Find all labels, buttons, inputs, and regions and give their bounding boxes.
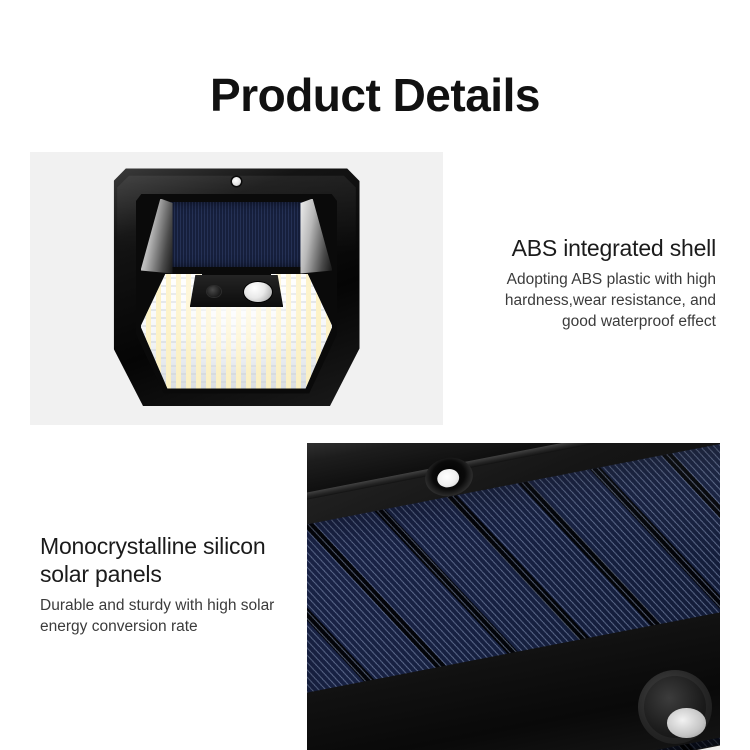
feature-solar-body: Durable and sturdy with high solar energ… [40, 595, 306, 637]
pir-motion-sensor-icon [244, 282, 272, 302]
lamp-illustration [114, 164, 360, 414]
mount-hole-icon [232, 177, 241, 186]
product-details-page: Product Details ABS integrated shell Ado… [0, 0, 750, 750]
solar-panel [168, 202, 306, 267]
feature-abs-heading: ABS integrated shell [466, 234, 716, 262]
feature-solar-body-line-1: Durable and sturdy with high solar [40, 595, 306, 616]
feature-abs-body-line-3: good waterproof effect [466, 311, 716, 332]
page-title: Product Details [0, 67, 750, 123]
feature-solar-heading-line-1: Monocrystalline silicon [40, 533, 266, 559]
feature-solar-body-line-2: energy conversion rate [40, 616, 306, 637]
feature-abs-shell: ABS integrated shell Adopting ABS plasti… [466, 234, 716, 332]
feature-abs-body: Adopting ABS plastic with high hardness,… [466, 269, 716, 332]
product-image-solar-panel [307, 443, 720, 750]
sensor-housing [190, 275, 284, 308]
feature-abs-body-line-1: Adopting ABS plastic with high [466, 269, 716, 290]
product-image-lamp [30, 152, 443, 425]
feature-solar-heading: Monocrystalline silicon solar panels [40, 532, 306, 588]
feature-solar-panels: Monocrystalline silicon solar panels Dur… [40, 532, 306, 637]
feature-solar-heading-line-2: solar panels [40, 560, 306, 588]
corner-screw-boss-icon [638, 670, 712, 744]
feature-abs-body-line-2: hardness,wear resistance, and [466, 290, 716, 311]
ambient-light-sensor-icon [207, 286, 221, 298]
